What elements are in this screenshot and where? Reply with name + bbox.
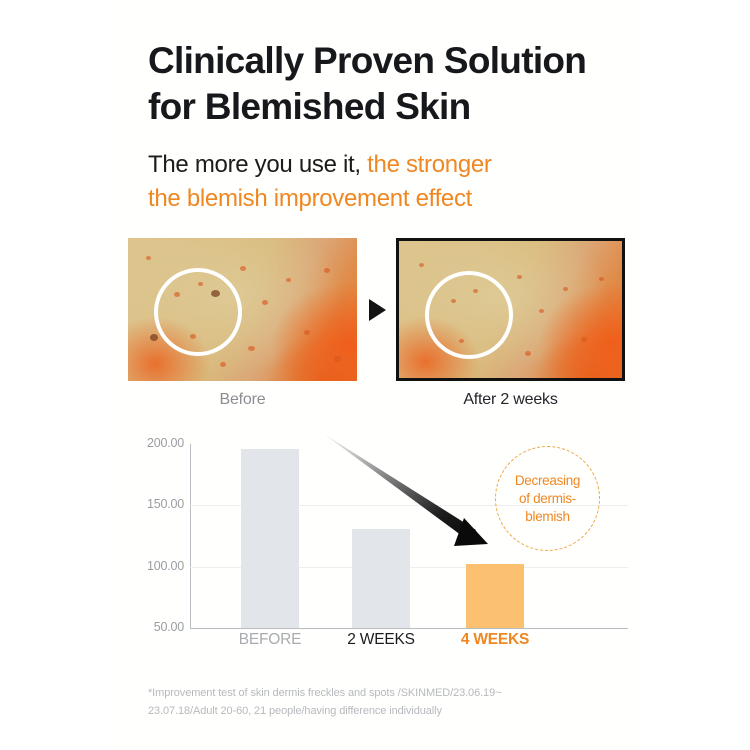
subheading-accent-line-2: the blemish improvement effect — [148, 185, 472, 212]
subheading: The more you use it, the stronger the bl… — [148, 148, 588, 216]
footnote-line-2: 23.07.18/Adult 20-60, 21 people/having d… — [148, 705, 442, 717]
page-title: Clinically Proven Solution for Blemished… — [148, 38, 618, 130]
headline-line-2: for Blemished Skin — [148, 86, 471, 127]
highlight-circle-before — [154, 268, 242, 356]
footnote-line-1: *Improvement test of skin dermis freckle… — [148, 687, 501, 699]
y-axis-tick-label: 200.00 — [128, 436, 184, 450]
subheading-plain: The more you use it, — [148, 151, 361, 178]
x-axis-label-before: BEFORE — [210, 631, 330, 649]
bar-4-weeks — [466, 564, 524, 628]
bar-2-weeks — [352, 529, 410, 628]
before-caption: Before — [128, 391, 357, 409]
x-axis — [190, 628, 628, 629]
promo-page: Clinically Proven Solution for Blemished… — [0, 0, 750, 750]
subheading-accent-line-1: the stronger — [361, 151, 492, 178]
callout-line-2: of dermis- — [519, 491, 576, 506]
y-axis-tick-label: 100.00 — [128, 559, 184, 573]
callout-line-1: Decreasing — [515, 473, 580, 488]
after-caption: After 2 weeks — [396, 391, 625, 409]
y-axis-tick-label: 150.00 — [128, 497, 184, 511]
callout-badge: Decreasing of dermis- blemish — [495, 446, 600, 551]
play-triangle-icon — [369, 299, 386, 321]
after-photo — [396, 238, 625, 381]
callout-line-3: blemish — [525, 509, 569, 524]
footnote: *Improvement test of skin dermis freckle… — [148, 684, 618, 720]
y-axis-tick-label: 50.00 — [128, 620, 184, 634]
before-photo — [128, 238, 357, 381]
x-axis-label-4-weeks: 4 WEEKS — [435, 631, 555, 649]
bar-before — [241, 449, 299, 628]
x-axis-label-2-weeks: 2 WEEKS — [321, 631, 441, 649]
headline-line-1: Clinically Proven Solution — [148, 40, 586, 81]
y-axis — [190, 444, 191, 628]
highlight-circle-after — [425, 271, 513, 359]
